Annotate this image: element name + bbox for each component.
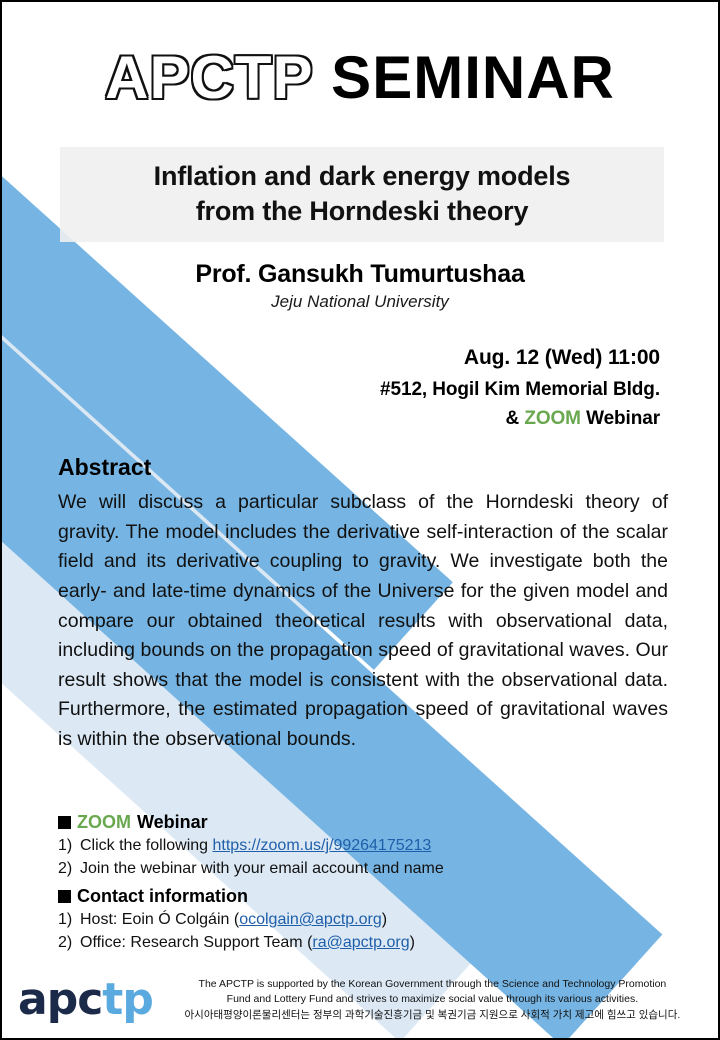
- zoom-webinar-section: ZOOM Webinar 1)Click the following https…: [58, 812, 678, 880]
- zoom-step-1-number: 1): [58, 835, 80, 858]
- apctp-logo-light-part: tp: [102, 974, 153, 1025]
- abstract-body: We will discuss a particular subclass of…: [58, 488, 668, 755]
- event-datetime: Aug. 12 (Wed) 11:00: [380, 342, 660, 375]
- funding-statement: The APCTP is supported by the Korean Gov…: [153, 977, 718, 1024]
- zoom-section-title-rest: Webinar: [137, 812, 208, 833]
- poster-headline: APCTP SEMINAR: [2, 46, 718, 109]
- zoom-step-2-number: 2): [58, 858, 80, 881]
- contact-office-email-link[interactable]: ra@apctp.org: [312, 934, 409, 951]
- event-meta-block: Aug. 12 (Wed) 11:00 #512, Hogil Kim Memo…: [380, 342, 660, 433]
- zoom-step-2-text: Join the webinar with your email account…: [80, 860, 444, 877]
- speaker-affiliation: Jeju National University: [2, 292, 718, 312]
- zoom-step-1: 1)Click the following https://zoom.us/j/…: [58, 835, 678, 858]
- abstract-block: Abstract We will discuss a particular su…: [58, 454, 668, 755]
- poster-content: APCTP SEMINAR Inflation and dark energy …: [2, 2, 718, 1038]
- event-online-mode: & ZOOM Webinar: [380, 404, 660, 433]
- zoom-meeting-link[interactable]: https://zoom.us/j/99264175213: [213, 837, 432, 854]
- apctp-logo-dark-part: apc: [18, 974, 102, 1025]
- apctp-logo: apctp: [18, 978, 153, 1022]
- contact-office-number: 2): [58, 932, 80, 955]
- contact-office-text: Office: Research Support Team (: [80, 934, 312, 951]
- funding-line-2: Fund and Lottery Fund and strives to max…: [157, 992, 708, 1008]
- contact-information-section: Contact information 1)Host: Eoin Ó Colgá…: [58, 886, 678, 954]
- funding-line-3-korean: 아시아태평양이론물리센터는 정부의 과학기술진흥기금 및 복권기금 지원으로 사…: [157, 1008, 708, 1024]
- seminar-title-line1: Inflation and dark energy models: [70, 159, 654, 194]
- headline-space: [314, 44, 332, 111]
- event-online-prefix: &: [506, 408, 525, 429]
- poster-footer: apctp The APCTP is supported by the Kore…: [2, 962, 718, 1038]
- funding-line-1: The APCTP is supported by the Korean Gov…: [157, 977, 708, 993]
- contact-section-title-text: Contact information: [77, 886, 248, 907]
- contact-office-row: 2)Office: Research Support Team (ra@apct…: [58, 932, 678, 955]
- zoom-section-title: ZOOM Webinar: [58, 812, 678, 833]
- seminar-poster: APCTP SEMINAR Inflation and dark energy …: [0, 0, 720, 1040]
- contact-host-text-after: ): [382, 911, 387, 928]
- seminar-title-band: Inflation and dark energy models from th…: [60, 147, 664, 242]
- speaker-name: Prof. Gansukh Tumurtushaa: [2, 260, 718, 289]
- zoom-step-1-text: Click the following: [80, 837, 213, 854]
- event-zoom-brand: ZOOM: [524, 408, 581, 429]
- contact-host-text: Host: Eoin Ó Colgáin (: [80, 911, 239, 928]
- square-bullet-icon: [58, 816, 71, 829]
- event-online-suffix: Webinar: [581, 408, 660, 429]
- headline-apctp: APCTP: [105, 44, 313, 111]
- speaker-block: Prof. Gansukh Tumurtushaa Jeju National …: [2, 260, 718, 312]
- event-venue: #512, Hogil Kim Memorial Bldg.: [380, 375, 660, 404]
- contact-host-row: 1)Host: Eoin Ó Colgáin (ocolgain@apctp.o…: [58, 909, 678, 932]
- contact-host-number: 1): [58, 909, 80, 932]
- contact-host-email-link[interactable]: ocolgain@apctp.org: [239, 911, 382, 928]
- square-bullet-icon: [58, 890, 71, 903]
- zoom-step-2: 2)Join the webinar with your email accou…: [58, 858, 678, 881]
- zoom-section-brand: ZOOM: [77, 812, 131, 833]
- headline-seminar: SEMINAR: [331, 44, 615, 111]
- abstract-heading: Abstract: [58, 454, 668, 481]
- seminar-title-line2: from the Horndeski theory: [70, 194, 654, 229]
- contact-office-text-after: ): [410, 934, 415, 951]
- contact-section-title: Contact information: [58, 886, 678, 907]
